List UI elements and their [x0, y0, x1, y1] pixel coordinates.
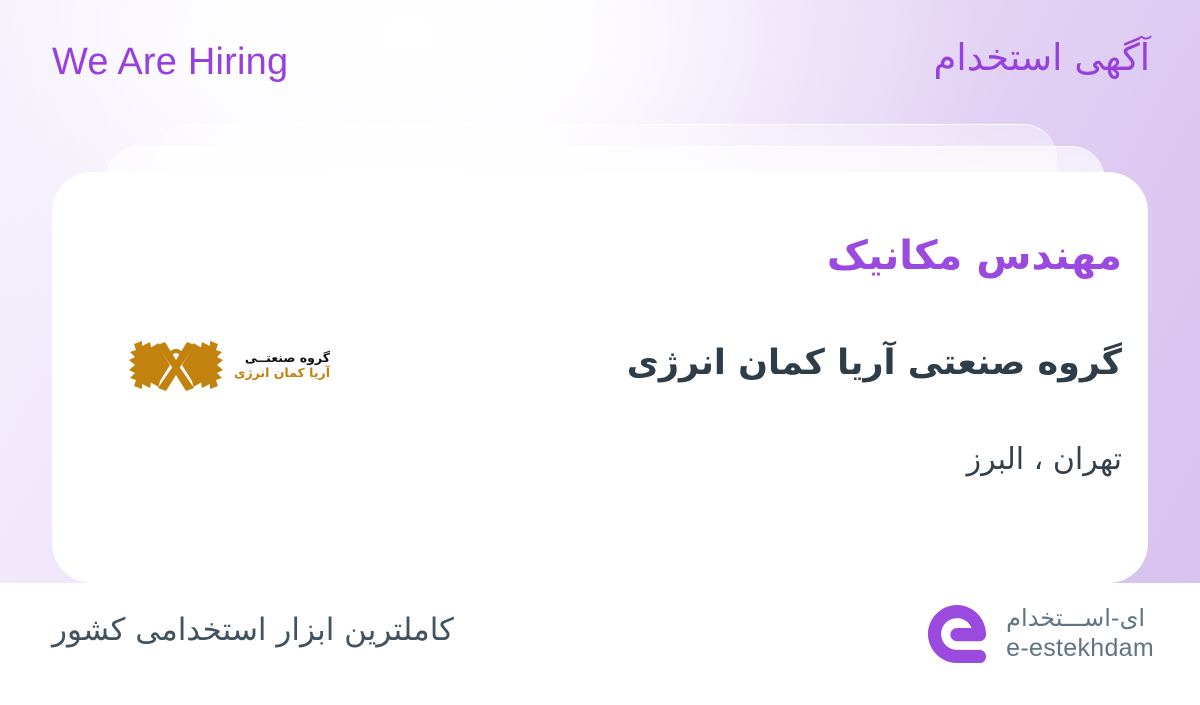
job-ad-label-fa: آگهی استخدام: [934, 36, 1151, 79]
company-logo-line-1: گروه صنعتــی: [234, 350, 330, 365]
job-ad-poster: We Are Hiring آگهی استخدام مهندس مکانیک …: [0, 0, 1200, 705]
e-estekhdam-brand: ای-اســـتخدام e-estekhdam: [924, 601, 1154, 667]
brand-name-fa: ای-اســـتخدام: [1006, 604, 1145, 633]
gear-m-logo-icon: [127, 334, 225, 396]
e-estekhdam-wordmark: ای-اســـتخدام e-estekhdam: [1006, 604, 1154, 664]
company-name: گروه صنعتی آریا کمان انرژی: [627, 342, 1122, 386]
company-logo-line-2: آریا کمان انرژی: [234, 365, 330, 380]
job-title: مهندس مکانیک: [827, 232, 1122, 280]
brand-name-en: e-estekhdam: [1006, 633, 1154, 664]
poster-stage: We Are Hiring آگهی استخدام مهندس مکانیک …: [0, 0, 1200, 583]
poster-header: We Are Hiring آگهی استخدام: [0, 0, 1200, 120]
poster-footer: کاملترین ابزار استخدامی کشور ای-اســـتخد…: [0, 583, 1200, 705]
we-are-hiring-label: We Are Hiring: [52, 41, 288, 84]
e-estekhdam-e-icon: [924, 601, 990, 667]
company-logo-wordmark: گروه صنعتــی آریا کمان انرژی: [234, 350, 330, 381]
footer-tagline: کاملترین ابزار استخدامی کشور: [52, 612, 454, 648]
company-logo: گروه صنعتــی آریا کمان انرژی: [130, 330, 330, 400]
job-location: تهران ، البرز: [967, 442, 1122, 477]
